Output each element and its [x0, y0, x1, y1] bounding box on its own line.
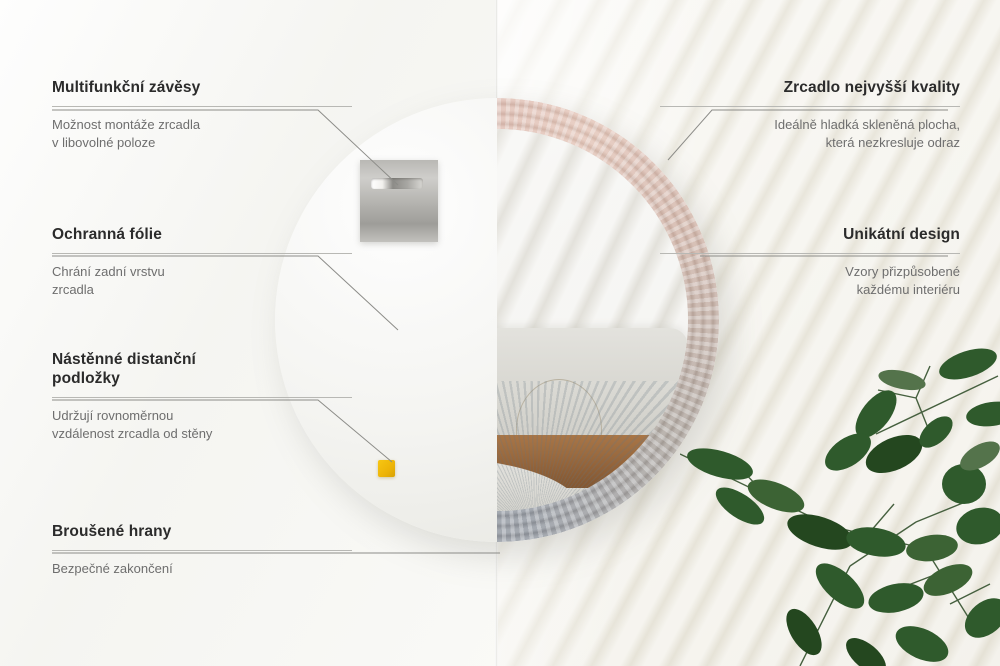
callout-description: Ideálně hladká skleněná plocha, která ne…	[660, 116, 960, 152]
desc-line-2: každému interiéru	[857, 282, 960, 297]
keyhole-slot-icon	[371, 178, 423, 189]
callout-rule	[660, 106, 960, 107]
callout-title: Unikátní design	[660, 225, 960, 244]
title-line-1: Nástěnné distanční	[52, 351, 196, 368]
callout-description: Chrání zadní vrstvu zrcadla	[52, 263, 352, 299]
round-mirror	[275, 98, 719, 542]
callout-rule	[52, 253, 352, 254]
callout-title: Zrcadlo nejvyšší kvality	[660, 78, 960, 97]
desc-line-1: Možnost montáže zrcadla	[52, 117, 200, 132]
callout-unique-design: Unikátní design Vzory přizpůsobené každé…	[660, 225, 960, 299]
callout-title: Broušené hrany	[52, 522, 352, 541]
callout-title: Ochranná fólie	[52, 225, 352, 244]
callout-multifunctional-hangers: Multifunkční závěsy Možnost montáže zrca…	[52, 78, 352, 152]
callout-title: Nástěnné distanční podložky	[52, 350, 352, 388]
green-leaf-branches	[680, 336, 1000, 666]
desc-line-2: v libovolné poloze	[52, 135, 155, 150]
desc-line-2: vzdálenost zrcadla od stěny	[52, 426, 212, 441]
mirror-glass	[497, 129, 688, 511]
callout-protective-foil: Ochranná fólie Chrání zadní vrstvu zrcad…	[52, 225, 352, 299]
callout-ground-edges: Broušené hrany Bezpečné zakončení	[52, 522, 352, 578]
callout-highest-quality-mirror: Zrcadlo nejvyšší kvality Ideálně hladká …	[660, 78, 960, 152]
glass-botanical-overlay	[497, 381, 688, 511]
desc-line-1: Vzory přizpůsobené	[845, 264, 960, 279]
callout-rule	[52, 550, 352, 551]
desc-line-2: která nezkresluje odraz	[826, 135, 960, 150]
callout-description: Vzory přizpůsobené každému interiéru	[660, 263, 960, 299]
title-line-2: podložky	[52, 370, 120, 387]
callout-description: Bezpečné zakončení	[52, 560, 352, 578]
callout-wall-spacer-pads: Nástěnné distanční podložky Udržují rovn…	[52, 350, 352, 443]
hanger-bracket	[360, 160, 438, 242]
branch-stems	[680, 366, 998, 666]
desc-line-1: Chrání zadní vrstvu	[52, 264, 165, 279]
callout-rule	[660, 253, 960, 254]
desc-line-1: Ideálně hladká skleněná plocha,	[774, 117, 960, 132]
callout-title: Multifunkční závěsy	[52, 78, 352, 97]
infographic-canvas: Multifunkční závěsy Možnost montáže zrca…	[0, 0, 1000, 666]
callout-description: Možnost montáže zrcadla v libovolné polo…	[52, 116, 352, 152]
leaves	[684, 342, 1000, 666]
callout-rule	[52, 397, 352, 398]
desc-line-2: zrcadla	[52, 282, 94, 297]
desc-line-1: Udržují rovnoměrnou	[52, 408, 173, 423]
callout-rule	[52, 106, 352, 107]
mirror-clip	[275, 98, 719, 542]
callout-description: Udržují rovnoměrnou vzdálenost zrcadla o…	[52, 407, 352, 443]
spacer-pad	[378, 460, 395, 477]
desc-line-1: Bezpečné zakončení	[52, 561, 173, 576]
